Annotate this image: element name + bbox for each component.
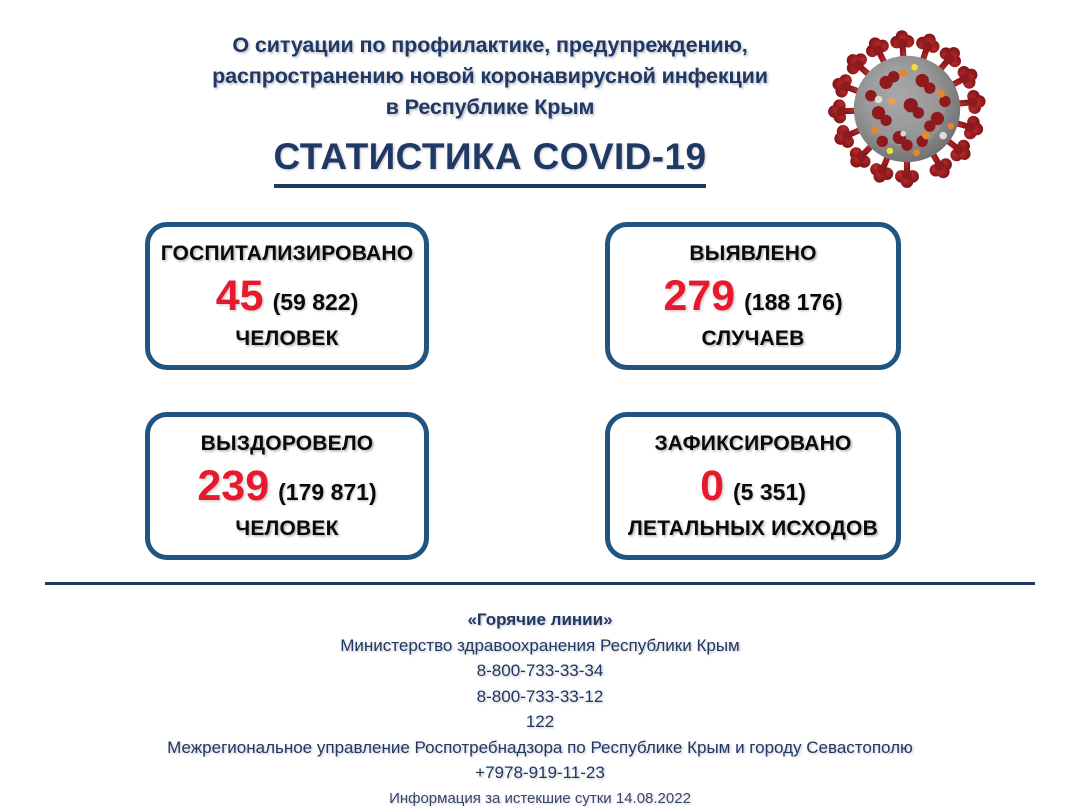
stat-card-value: 279 bbox=[663, 275, 735, 318]
page-title-text: СТАТИСТИКА COVID-19 bbox=[274, 136, 707, 188]
hotlines-title: «Горячие линии» bbox=[40, 607, 1040, 633]
stat-card-hospitalized: ГОСПИТАЛИЗИРОВАНО 45 (59 822) ЧЕЛОВЕК bbox=[145, 222, 429, 370]
header-line-1: О ситуации по профилактике, предупрежден… bbox=[150, 30, 830, 61]
stat-card-unit: ЛЕТАЛЬНЫХ ИСХОДОВ bbox=[628, 517, 878, 540]
stat-card-numbers: 279 (188 176) bbox=[663, 275, 842, 318]
stat-card-recovered: ВЫЗДОРОВЕЛО 239 (179 871) ЧЕЛОВЕК bbox=[145, 412, 429, 560]
stat-card-title: ВЫЯВЛЕНО bbox=[689, 242, 816, 265]
header-block: О ситуации по профилактике, предупрежден… bbox=[150, 30, 830, 123]
stat-card-unit: ЧЕЛОВЕК bbox=[235, 517, 338, 540]
stat-card-total: (5 351) bbox=[733, 481, 806, 504]
header-line-2: распространению новой коронавирусной инф… bbox=[150, 61, 830, 92]
header-line-3: в Республике Крым bbox=[150, 92, 830, 123]
ministry-name: Министерство здравоохранения Республики … bbox=[40, 633, 1040, 659]
stat-card-value: 239 bbox=[197, 465, 269, 508]
hotline-phone-3[interactable]: 122 bbox=[40, 709, 1040, 735]
rospotrebnadzor-name: Межрегиональное управление Роспотребнадз… bbox=[40, 735, 1040, 761]
stat-card-title: ЗАФИКСИРОВАНО bbox=[654, 432, 851, 455]
stat-card-value: 45 bbox=[216, 275, 264, 318]
stat-card-total: (188 176) bbox=[744, 291, 842, 314]
footer-contacts: «Горячие линии» Министерство здравоохран… bbox=[40, 607, 1040, 811]
stat-card-title: ВЫЗДОРОВЕЛО bbox=[201, 432, 374, 455]
info-date-note: Информация за истекшие сутки 14.08.2022 bbox=[40, 787, 1040, 811]
stat-card-numbers: 239 (179 871) bbox=[197, 465, 376, 508]
coronavirus-icon bbox=[812, 14, 1002, 204]
page-title: СТАТИСТИКА COVID-19 bbox=[150, 136, 830, 188]
infographic-page: О ситуации по профилактике, предупрежден… bbox=[0, 0, 1080, 810]
stat-card-unit: ЧЕЛОВЕК bbox=[235, 327, 338, 350]
hotline-phone-2[interactable]: 8-800-733-33-12 bbox=[40, 684, 1040, 710]
stat-card-deaths: ЗАФИКСИРОВАНО 0 (5 351) ЛЕТАЛЬНЫХ ИСХОДО… bbox=[605, 412, 901, 560]
stat-card-numbers: 0 (5 351) bbox=[700, 465, 806, 508]
stat-card-numbers: 45 (59 822) bbox=[216, 275, 359, 318]
stat-card-total: (59 822) bbox=[273, 291, 359, 314]
stat-card-title: ГОСПИТАЛИЗИРОВАНО bbox=[161, 242, 414, 265]
stat-card-total: (179 871) bbox=[278, 481, 376, 504]
stat-card-detected: ВЫЯВЛЕНО 279 (188 176) СЛУЧАЕВ bbox=[605, 222, 901, 370]
section-divider bbox=[45, 582, 1035, 585]
stat-card-unit: СЛУЧАЕВ bbox=[702, 327, 805, 350]
hotline-phone-1[interactable]: 8-800-733-33-34 bbox=[40, 658, 1040, 684]
hotline-phone-4[interactable]: +7978-919-11-23 bbox=[40, 760, 1040, 786]
stat-card-value: 0 bbox=[700, 465, 724, 508]
